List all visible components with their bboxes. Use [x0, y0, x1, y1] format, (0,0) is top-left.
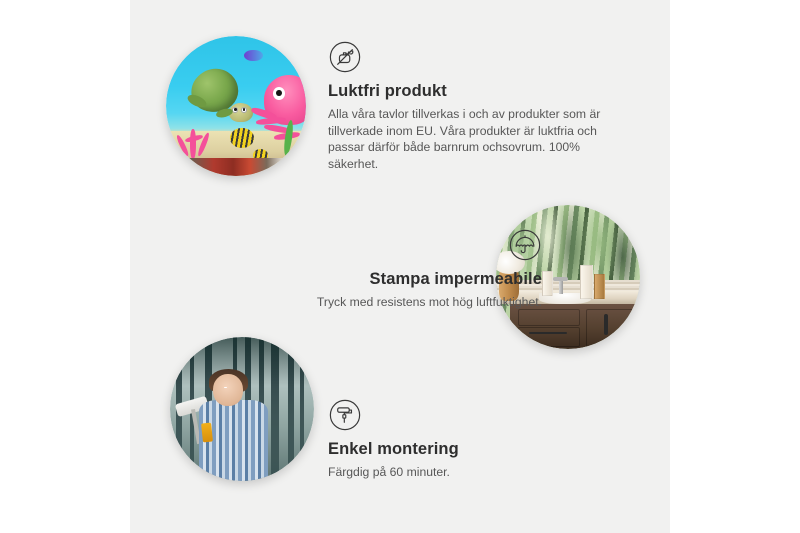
paint-roller-icon — [328, 398, 362, 432]
umbrella-icon — [508, 228, 542, 262]
feature-body: Alla våra tavlor tillverkas i och av pro… — [328, 106, 628, 172]
toiletry-bottle — [542, 271, 553, 296]
turtle-eye-left — [232, 107, 238, 113]
feature-waterproof-print: Stampa impermeabile Tryck med resistens … — [210, 228, 542, 311]
coral-icon — [177, 117, 219, 159]
vanity-cabinet — [510, 304, 640, 349]
sea-turtle-icon — [186, 67, 252, 123]
faucet-icon — [559, 277, 563, 294]
coral-branch — [190, 129, 196, 159]
toiletry-bottle — [580, 265, 594, 299]
toiletry-bottle — [594, 274, 605, 299]
cabinet-drawer — [518, 309, 580, 326]
feature-title: Enkel montering — [328, 440, 628, 459]
feature-icon-wrap — [328, 40, 628, 74]
person-head — [213, 374, 243, 406]
person-smile — [224, 387, 227, 388]
cabinet-drawer — [518, 327, 580, 347]
info-panel: Luktfri produkt Alla våra tavlor tillver… — [130, 0, 670, 533]
drawer-handle — [529, 332, 568, 334]
turtle-eye-right — [241, 107, 247, 113]
cabinet-door — [586, 309, 637, 347]
octopus-icon — [250, 75, 306, 142]
octopus-eye — [273, 87, 285, 100]
feature-icon-wrap — [328, 398, 628, 432]
feature-icon-wrap — [210, 228, 542, 262]
no-fragrance-icon — [328, 40, 362, 74]
image-sea-life-mural — [166, 36, 306, 176]
forest-scene — [170, 337, 314, 481]
feature-body: Färgdig på 60 minuter. — [328, 464, 628, 481]
blue-fish-icon — [244, 50, 262, 61]
product-feature-infographic: Luktfri produkt Alla våra tavlor tillver… — [0, 0, 800, 533]
sea-foreground-strip — [166, 158, 306, 176]
sea-scene — [166, 36, 306, 176]
striped-fish-icon — [230, 128, 254, 148]
hand-tool — [201, 423, 213, 443]
door-handle — [604, 314, 609, 335]
feature-title: Luktfri produkt — [328, 82, 628, 101]
feature-title: Stampa impermeabile — [210, 270, 542, 289]
feature-body: Tryck med resistens mot hög luftfuktighe… — [210, 294, 542, 311]
feature-odour-free: Luktfri produkt Alla våra tavlor tillver… — [328, 40, 628, 172]
image-painter-forest — [170, 337, 314, 481]
feature-easy-mounting: Enkel montering Färgdig på 60 minuter. — [328, 398, 628, 481]
